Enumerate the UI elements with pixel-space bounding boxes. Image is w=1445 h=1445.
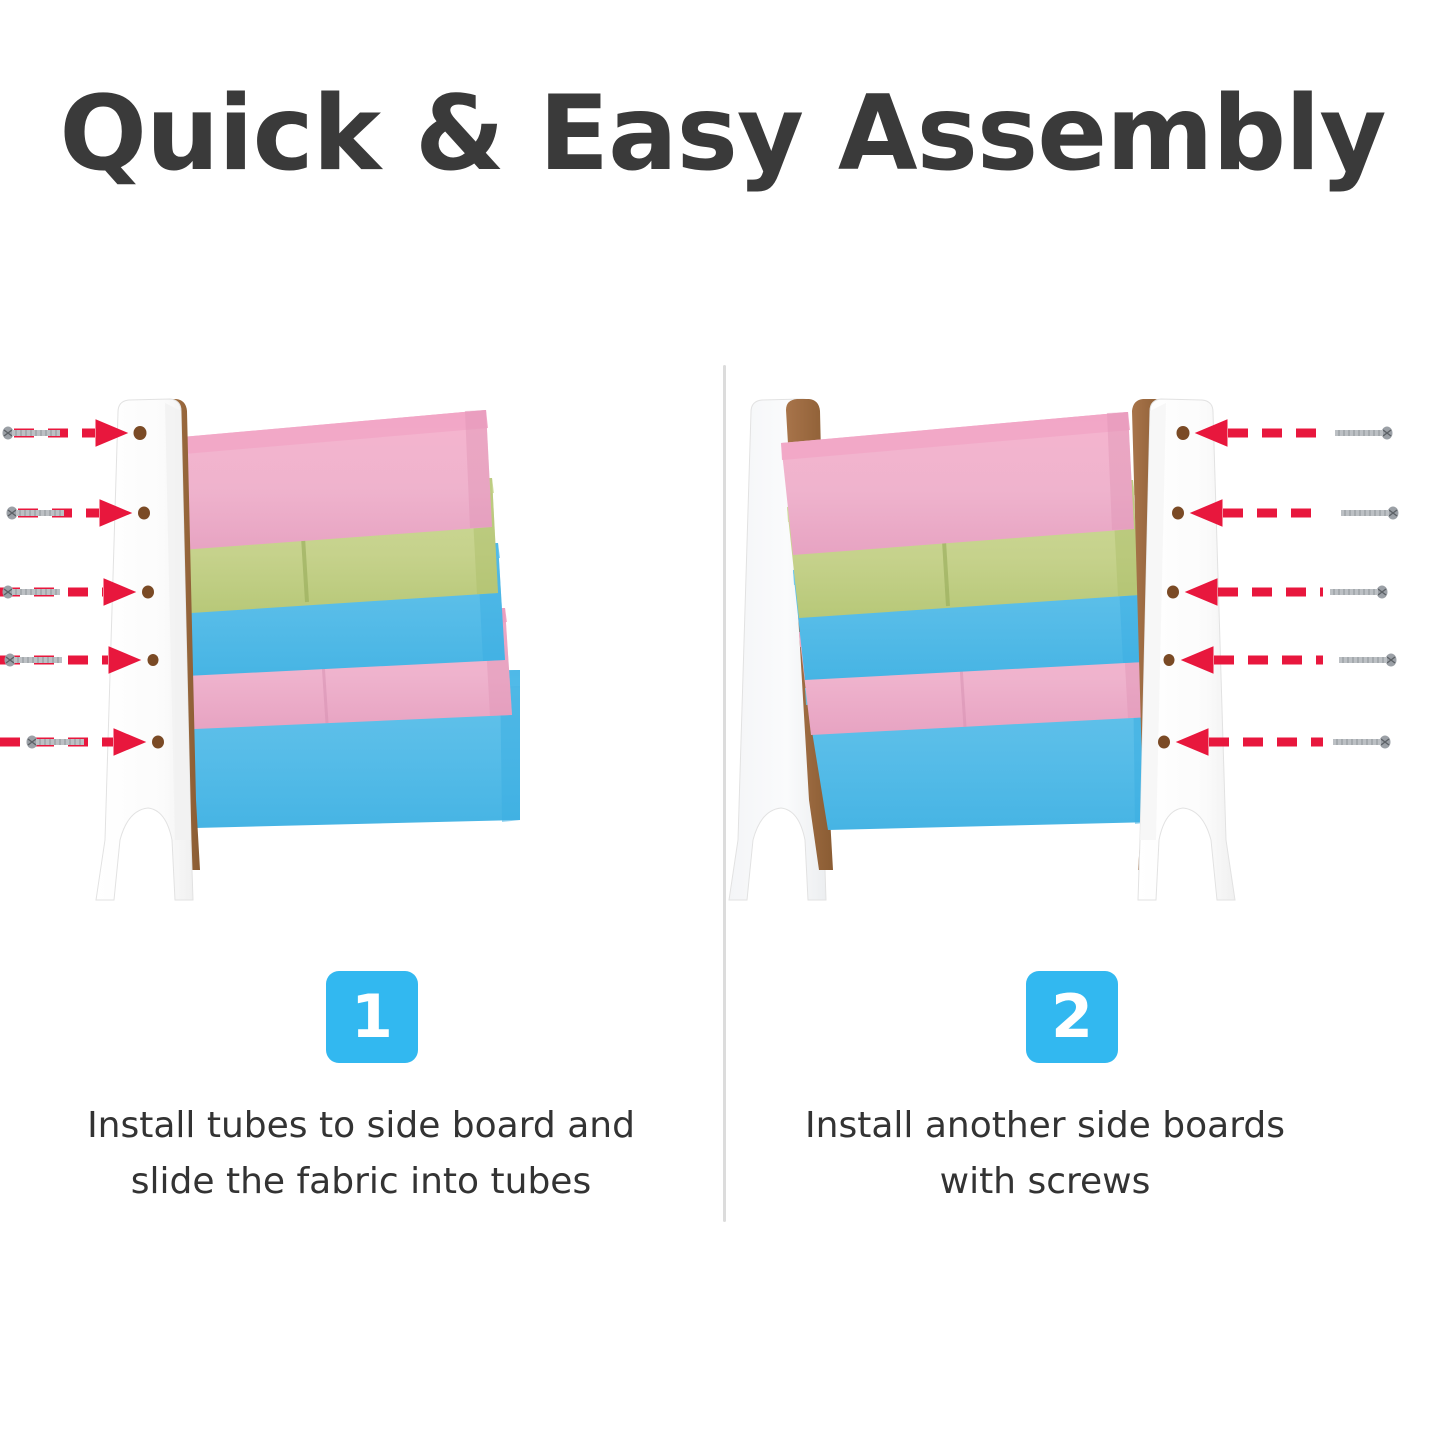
assembly-instruction-page: Quick & Easy Assembly: [0, 0, 1445, 1445]
arrow-left-4: [1182, 647, 1323, 673]
step-2-number-badge: 2: [1026, 971, 1118, 1063]
step-2-column: 2 Install another side boards with screw…: [723, 0, 1445, 1445]
hole-3: [1167, 586, 1179, 599]
arrow-left-5: [1177, 729, 1323, 755]
screw-5: [27, 736, 85, 749]
screw-2: [1341, 507, 1399, 520]
hole-5: [152, 736, 164, 749]
screw-3: [3, 586, 61, 599]
hole-2: [138, 507, 150, 520]
screw-1: [1335, 427, 1393, 440]
step-1-caption: Install tubes to side board and slide th…: [21, 1098, 701, 1210]
hole-3: [142, 586, 154, 599]
hole-1: [134, 426, 147, 440]
step-1-illustration: [0, 370, 722, 930]
side-board-near: [1132, 399, 1235, 900]
screw-1: [3, 427, 61, 440]
screw-3: [1330, 586, 1388, 599]
step-1-column: 1 Install tubes to side board and slide …: [0, 0, 722, 1445]
step-1-caption-line-1: Install tubes to side board and: [21, 1098, 701, 1154]
step-2-figure: [723, 370, 1445, 930]
hole-5: [1158, 736, 1170, 749]
screws: [1330, 427, 1399, 749]
arrow-left-1: [1196, 420, 1323, 446]
hole-2: [1172, 507, 1184, 520]
step-2-caption-line-1: Install another side boards: [705, 1098, 1385, 1154]
screw-4: [5, 654, 63, 667]
step-1-number-badge: 1: [326, 971, 418, 1063]
hole-4: [1164, 654, 1175, 666]
sling-pink-top: [148, 410, 492, 552]
hole-4: [148, 654, 159, 666]
screw-4: [1339, 654, 1397, 667]
arrow-left-3: [1186, 579, 1323, 605]
hole-1: [1177, 426, 1190, 440]
screw-2: [7, 507, 65, 520]
step-2-illustration: [723, 370, 1445, 930]
step-2-caption-line-2: with screws: [705, 1154, 1385, 1210]
step-2-caption: Install another side boards with screws: [705, 1098, 1385, 1210]
step-1-figure: [0, 370, 722, 930]
screw-5: [1333, 736, 1391, 749]
step-1-caption-line-2: slide the fabric into tubes: [21, 1154, 701, 1210]
